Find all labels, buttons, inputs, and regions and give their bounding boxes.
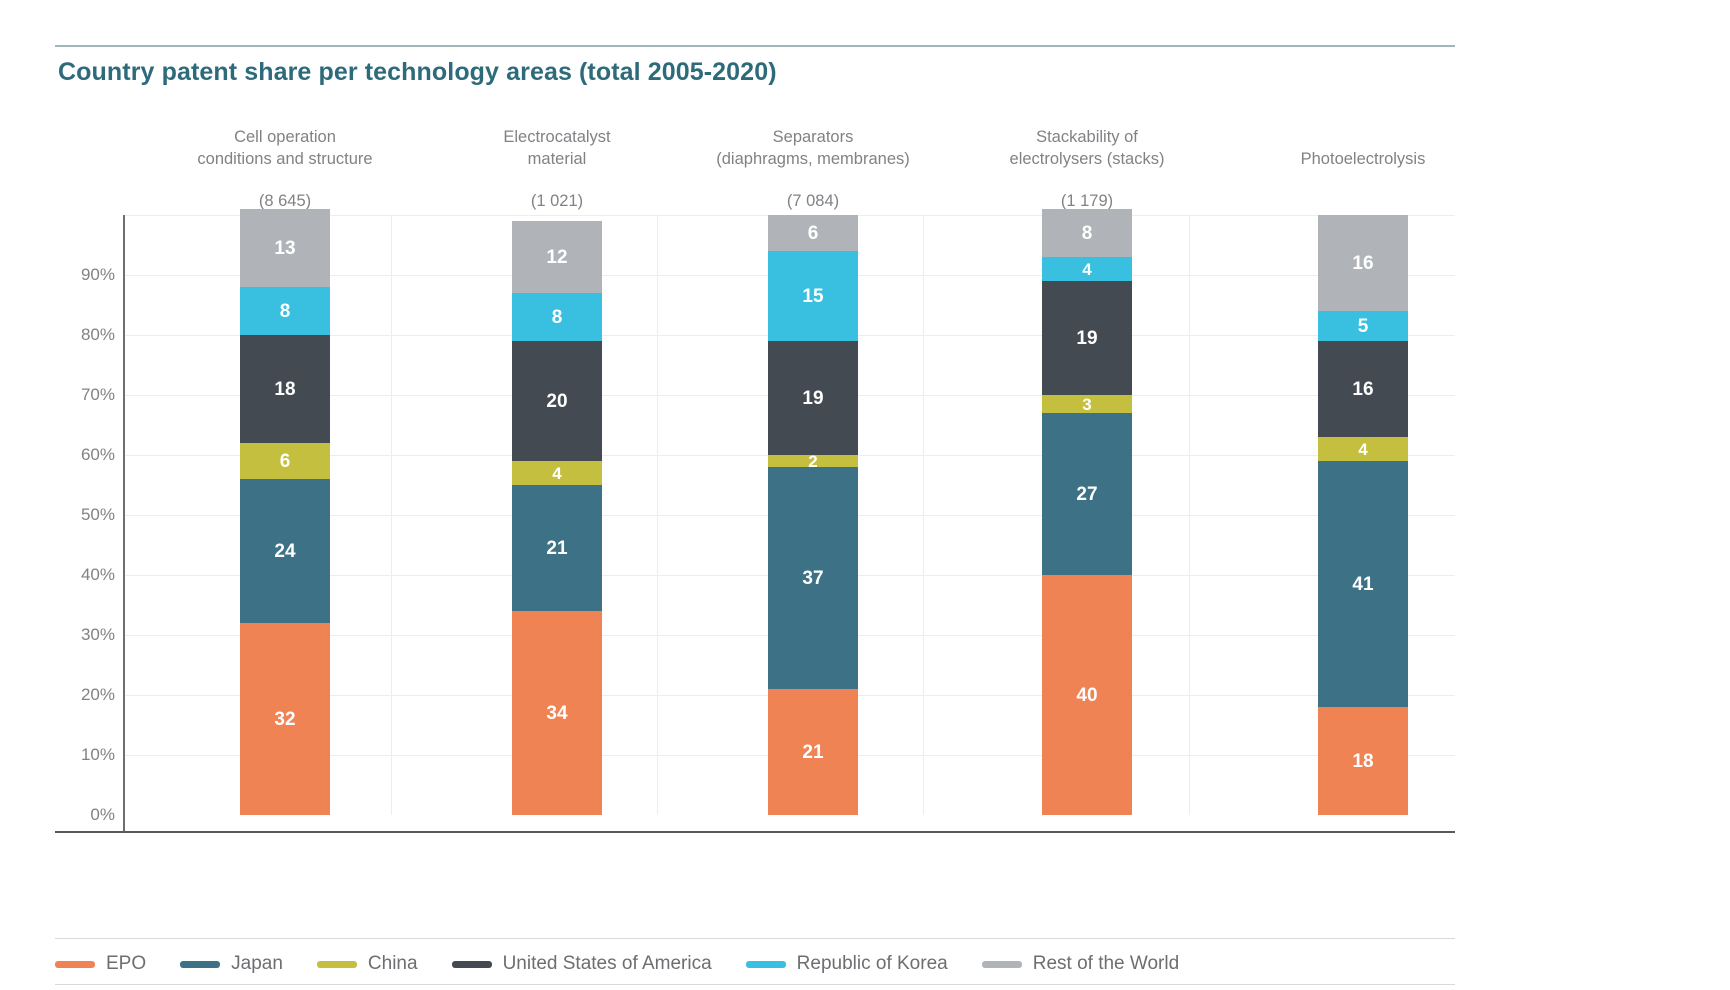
bar-segment[interactable]: 2 xyxy=(768,455,858,467)
legend-label: Republic of Korea xyxy=(797,953,948,975)
bar-segment[interactable]: 19 xyxy=(768,341,858,455)
bar-segment[interactable]: 18 xyxy=(1318,707,1408,815)
legend-label: United States of America xyxy=(503,953,712,975)
legend-swatch-icon xyxy=(317,961,357,968)
category-separator xyxy=(923,215,924,815)
y-axis-tick-label: 50% xyxy=(45,505,115,525)
bar-segment[interactable]: 13 xyxy=(240,209,330,287)
column-header-line: Photoelectrolysis xyxy=(1173,148,1553,170)
bar-segment[interactable]: 34 xyxy=(512,611,602,815)
bar-segment[interactable]: 5 xyxy=(1318,311,1408,341)
legend-item-united-states-of-america[interactable]: United States of America xyxy=(452,953,712,975)
y-axis-tick-label: 80% xyxy=(45,325,115,345)
legend-label: Rest of the World xyxy=(1033,953,1179,975)
bar-segment[interactable]: 16 xyxy=(1318,215,1408,311)
chart-page: Country patent share per technology area… xyxy=(0,0,1730,990)
legend-swatch-icon xyxy=(746,961,786,968)
y-axis-tick-label: 10% xyxy=(45,745,115,765)
bar-segment[interactable]: 20 xyxy=(512,341,602,461)
bar-segment[interactable]: 12 xyxy=(512,221,602,293)
bar-segment[interactable]: 3 xyxy=(1042,395,1132,413)
y-axis-tick-label: 70% xyxy=(45,385,115,405)
y-axis-tick-label: 20% xyxy=(45,685,115,705)
column-header-line: Stackability of xyxy=(897,126,1277,148)
bar-segment[interactable]: 24 xyxy=(240,479,330,623)
stacked-bar[interactable]: 3421420812 xyxy=(512,221,602,815)
bar-segment[interactable]: 32 xyxy=(240,623,330,815)
bar-segment[interactable]: 8 xyxy=(240,287,330,335)
page-title: Country patent share per technology area… xyxy=(58,58,777,87)
stacked-bar[interactable]: 1841416516 xyxy=(1318,215,1408,815)
bar-segment[interactable]: 37 xyxy=(768,467,858,689)
y-axis-tick-label: 30% xyxy=(45,625,115,645)
bar-segment[interactable]: 18 xyxy=(240,335,330,443)
title-divider xyxy=(55,45,1455,47)
legend-item-japan[interactable]: Japan xyxy=(180,953,283,975)
bar-segment[interactable]: 21 xyxy=(768,689,858,815)
bar-segment[interactable]: 27 xyxy=(1042,413,1132,575)
bar-segment[interactable]: 19 xyxy=(1042,281,1132,395)
bar-segment[interactable]: 41 xyxy=(1318,461,1408,707)
legend-swatch-icon xyxy=(982,961,1022,968)
category-separator xyxy=(391,215,392,815)
legend-item-republic-of-korea[interactable]: Republic of Korea xyxy=(746,953,948,975)
legend-label: EPO xyxy=(106,953,146,975)
legend-divider-bottom xyxy=(55,984,1455,985)
bar-segment[interactable]: 8 xyxy=(512,293,602,341)
bar-segment[interactable]: 6 xyxy=(768,215,858,251)
legend-divider-top xyxy=(55,938,1455,939)
category-separator xyxy=(657,215,658,815)
bar-segment[interactable]: 21 xyxy=(512,485,602,611)
x-axis-line xyxy=(55,831,1455,833)
legend-swatch-icon xyxy=(55,961,95,968)
bar-segment[interactable]: 16 xyxy=(1318,341,1408,437)
legend-swatch-icon xyxy=(180,961,220,968)
bar-segment[interactable]: 6 xyxy=(240,443,330,479)
stacked-bar[interactable]: 402731948 xyxy=(1042,209,1132,815)
plot-area: 3224618813342142081221372191564027319481… xyxy=(125,215,1455,815)
legend-item-china[interactable]: China xyxy=(317,953,418,975)
bar-segment[interactable]: 15 xyxy=(768,251,858,341)
y-axis-tick-label: 0% xyxy=(45,805,115,825)
chart-legend: EPOJapanChinaUnited States of AmericaRep… xyxy=(55,944,1455,984)
legend-item-rest-of-the-world[interactable]: Rest of the World xyxy=(982,953,1179,975)
legend-label: China xyxy=(368,953,418,975)
legend-item-epo[interactable]: EPO xyxy=(55,953,146,975)
category-separator xyxy=(1189,215,1190,815)
legend-label: Japan xyxy=(231,953,283,975)
bar-segment[interactable]: 4 xyxy=(1318,437,1408,461)
bar-segment[interactable]: 8 xyxy=(1042,209,1132,257)
y-axis-tick-label: 60% xyxy=(45,445,115,465)
legend-swatch-icon xyxy=(452,961,492,968)
bar-segment[interactable]: 4 xyxy=(1042,257,1132,281)
bar-segment[interactable]: 40 xyxy=(1042,575,1132,815)
y-axis-tick-label: 40% xyxy=(45,565,115,585)
stacked-bar[interactable]: 3224618813 xyxy=(240,209,330,815)
y-axis-tick-label: 90% xyxy=(45,265,115,285)
bar-segment[interactable]: 4 xyxy=(512,461,602,485)
stacked-bar[interactable]: 2137219156 xyxy=(768,215,858,815)
y-axis-ticks: 90%80%70%60%50%40%30%20%10%0% xyxy=(35,215,115,815)
